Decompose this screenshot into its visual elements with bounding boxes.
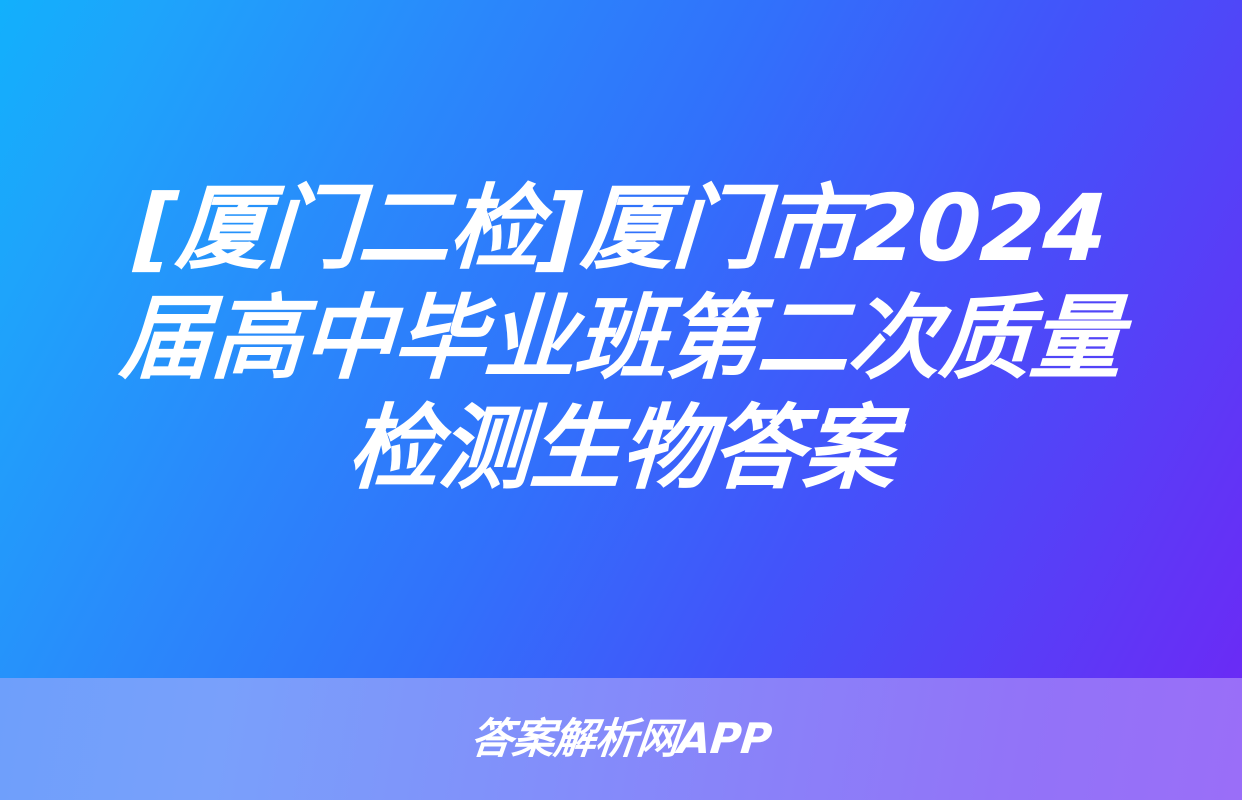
title-line-2: 届高中毕业班第二次质量 bbox=[118, 284, 1125, 394]
poster-canvas: [厦门二检]厦门市2024 届高中毕业班第二次质量 检测生物答案 答案解析网AP… bbox=[0, 0, 1242, 800]
poster-title-block: [厦门二检]厦门市2024 届高中毕业班第二次质量 检测生物答案 bbox=[0, 0, 1242, 678]
title-line-3: 检测生物答案 bbox=[345, 394, 897, 504]
footer-watermark-band: 答案解析网APP bbox=[0, 678, 1242, 800]
brand-watermark-label: 答案解析网APP bbox=[468, 715, 773, 763]
title-line-1: [厦门二检]厦门市2024 bbox=[133, 174, 1110, 284]
